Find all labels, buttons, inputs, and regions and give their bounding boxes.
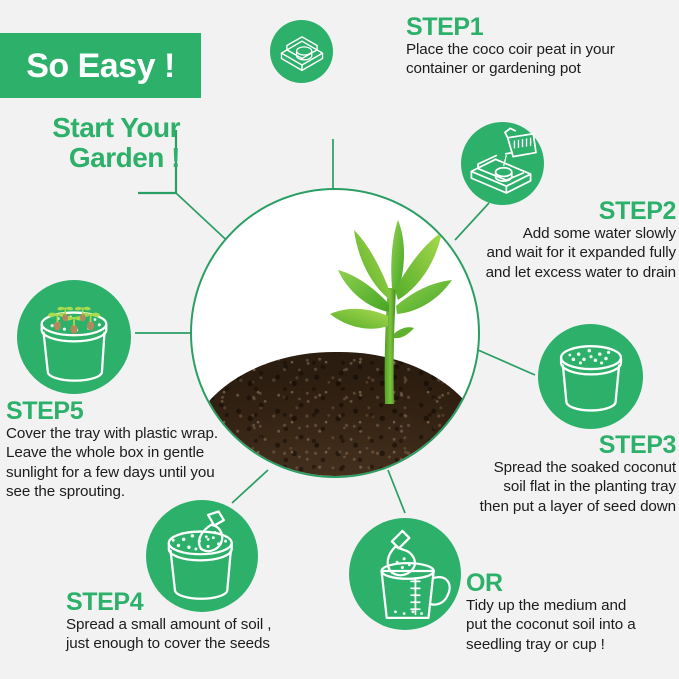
or-icon-circle[interactable] — [349, 518, 461, 630]
step5-text: STEP5 Cover the tray with plastic wrap. … — [6, 398, 256, 501]
step1-body: Place the coco coir peat in your contain… — [406, 40, 676, 78]
pot-with-seeds-icon — [547, 333, 635, 421]
banner: So Easy ! — [0, 33, 201, 98]
pot-with-sprouts-icon — [26, 289, 122, 385]
or-title: OR — [466, 570, 678, 596]
step4-text: STEP4 Spread a small amount of soil , ju… — [66, 589, 346, 654]
step5-title: STEP5 — [6, 398, 256, 424]
watering-jug-over-tray-icon — [466, 127, 540, 201]
step1-icon-circle[interactable] — [270, 20, 333, 83]
trowel-into-measuring-cup-icon — [357, 524, 453, 624]
step5-icon-circle[interactable] — [17, 280, 131, 394]
step4-title: STEP4 — [66, 589, 346, 615]
step1-text: STEP1 Place the coco coir peat in your c… — [406, 14, 676, 79]
step2-title: STEP2 — [386, 198, 676, 224]
step4-body: Spread a small amount of soil , just eno… — [66, 615, 346, 653]
step5-body: Cover the tray with plastic wrap. Leave … — [6, 424, 256, 501]
step1-title: STEP1 — [406, 14, 676, 40]
step3-icon-circle[interactable] — [538, 324, 643, 429]
step2-text: STEP2 Add some water slowly and wait for… — [386, 198, 676, 282]
infographic-root: So Easy ! Start Your Garden ! — [0, 0, 679, 679]
step2-icon-circle[interactable] — [461, 122, 544, 205]
step2-body: Add some water slowly and wait for it ex… — [386, 224, 676, 281]
or-text: OR Tidy up the medium and put the coconu… — [466, 570, 678, 654]
or-body: Tidy up the medium and put the coconut s… — [466, 596, 678, 653]
page-subtitle: Start Your Garden ! — [0, 113, 180, 173]
banner-title: So Easy ! — [26, 49, 175, 83]
step3-body: Spread the soaked coconut soil flat in t… — [386, 458, 676, 515]
step3-title: STEP3 — [386, 432, 676, 458]
step3-text: STEP3 Spread the soaked coconut soil fla… — [386, 432, 676, 516]
tray-with-coir-puck-icon — [275, 25, 329, 79]
